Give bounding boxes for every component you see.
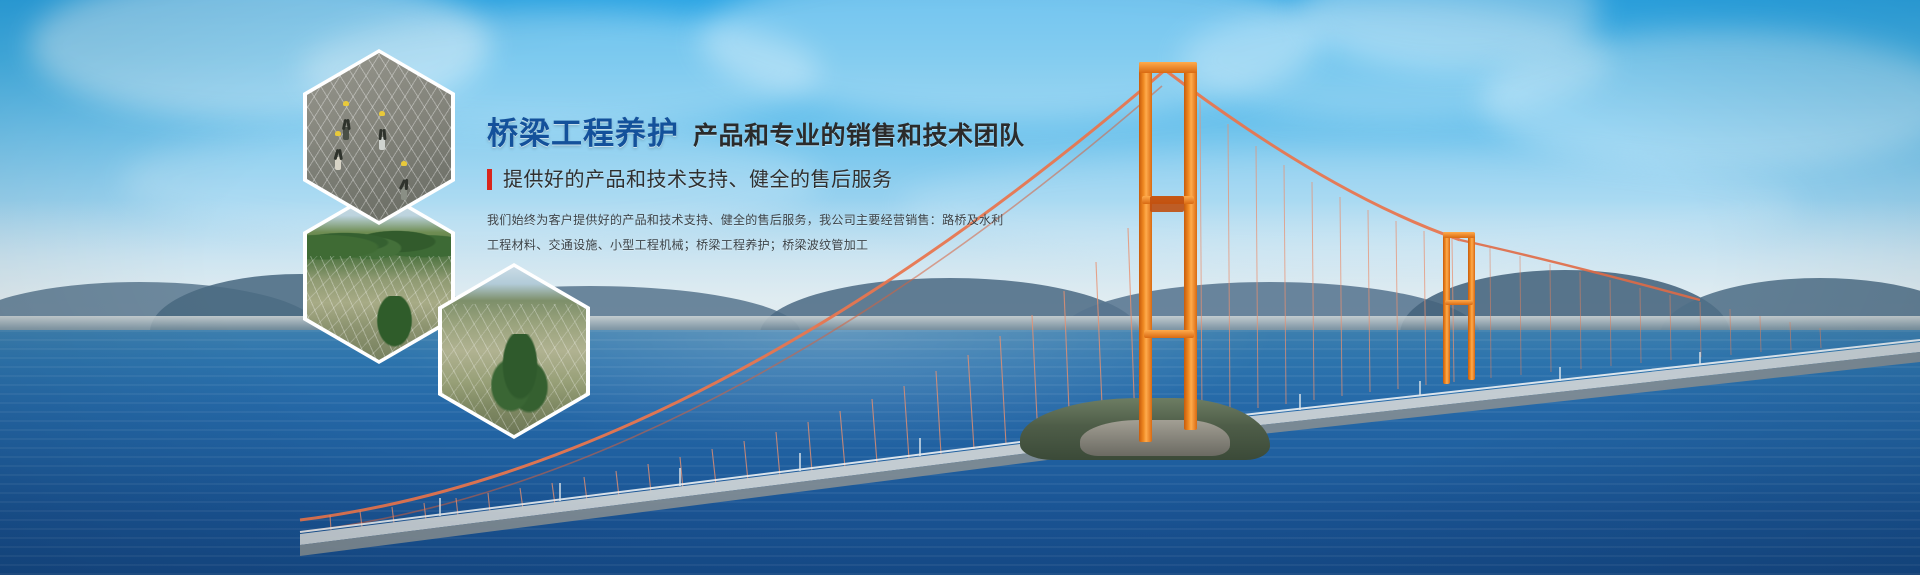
pylon-b-mid-beam <box>1445 300 1473 305</box>
suspension-bridge <box>0 0 1920 575</box>
pylon-a-signboard <box>1150 196 1184 212</box>
photo-slope-netting-shrub <box>442 267 586 435</box>
hex-photo-inner <box>307 53 451 221</box>
banner-body-text: 我们始终为客户提供好的产品和技术支持、健全的售后服务，我公司主要经营销售：路桥及… <box>487 211 1047 254</box>
banner-subheadline: 提供好的产品和技术支持、健全的售后服务 <box>503 170 893 190</box>
headline-primary: 桥梁工程养护 <box>487 118 679 149</box>
banner-copy-block: 桥梁工程养护 产品和专业的销售和技术团队 提供好的产品和技术支持、健全的售后服务… <box>487 118 1047 260</box>
accent-bar-icon <box>487 169 492 190</box>
bridge-pier-rock <box>1080 420 1230 456</box>
banner-body-line-2: 工程材料、交通设施、小型工程机械；桥梁工程养护；桥梁波纹管加工 <box>487 236 1047 255</box>
photo-shrub <box>491 334 549 421</box>
pylon-a-top-beam <box>1139 62 1197 73</box>
hex-photo-inner <box>442 267 586 435</box>
pylon-b-top-beam <box>1443 232 1475 238</box>
banner-headline: 桥梁工程养护 产品和专业的销售和技术团队 <box>487 118 1047 149</box>
banner-subheadline-row: 提供好的产品和技术支持、健全的售后服务 <box>487 169 1047 190</box>
bridge-cables-svg <box>0 0 1920 575</box>
hero-banner: 桥梁工程养护 产品和专业的销售和技术团队 提供好的产品和技术支持、健全的售后服务… <box>0 0 1920 575</box>
photo-rock-slope-workers <box>307 53 451 221</box>
pylon-b-right-leg <box>1468 232 1475 380</box>
banner-body-line-1: 我们始终为客户提供好的产品和技术支持、健全的售后服务，我公司主要经营销售：路桥及… <box>487 211 1047 230</box>
headline-secondary: 产品和专业的销售和技术团队 <box>693 124 1025 149</box>
pylon-b-left-leg <box>1443 232 1450 384</box>
pylon-a-right-leg <box>1184 62 1197 430</box>
pylon-a-lower-beam <box>1144 330 1194 338</box>
hanger-group-mid <box>1200 100 1454 416</box>
pylon-a-left-leg <box>1139 62 1152 442</box>
